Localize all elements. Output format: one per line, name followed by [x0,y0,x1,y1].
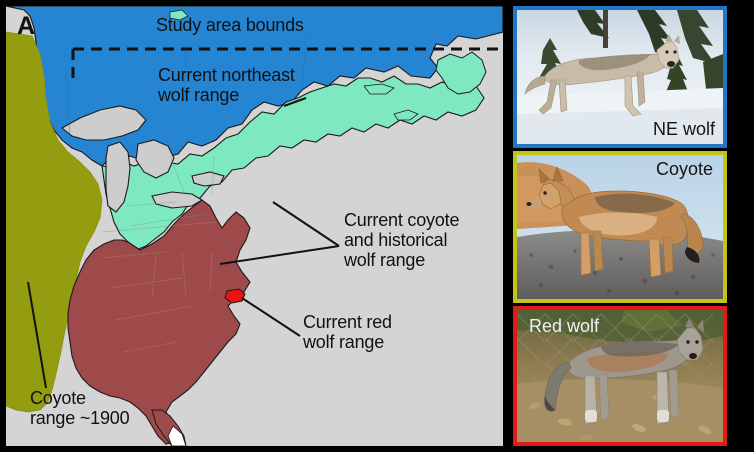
photo-stack: NE wolf [513,6,727,446]
photo-caption-red-wolf: Red wolf [529,316,599,337]
label-study-area-bounds: Study area bounds [156,15,304,35]
photo-caption-ne-wolf: NE wolf [653,119,715,140]
figure-root: A Study area bounds Current northeast wo… [0,0,754,452]
label-current-coyote-and-historical-wolf-range: Current coyote and historical wolf range [344,210,459,270]
label-coyote-range-1900: Coyote range ~1900 [30,388,129,428]
map-panel: A Study area bounds Current northeast wo… [6,6,503,446]
label-current-northeast-wolf-range: Current northeast wolf range [158,65,295,105]
label-current-red-wolf-range: Current red wolf range [303,312,392,352]
photo-card-coyote[interactable]: Coyote [513,151,727,303]
photo-caption-coyote: Coyote [656,159,713,180]
panel-letter: A [17,12,35,40]
photo-card-ne-wolf[interactable]: NE wolf [513,6,727,148]
photo-card-red-wolf[interactable]: Red wolf [513,306,727,446]
